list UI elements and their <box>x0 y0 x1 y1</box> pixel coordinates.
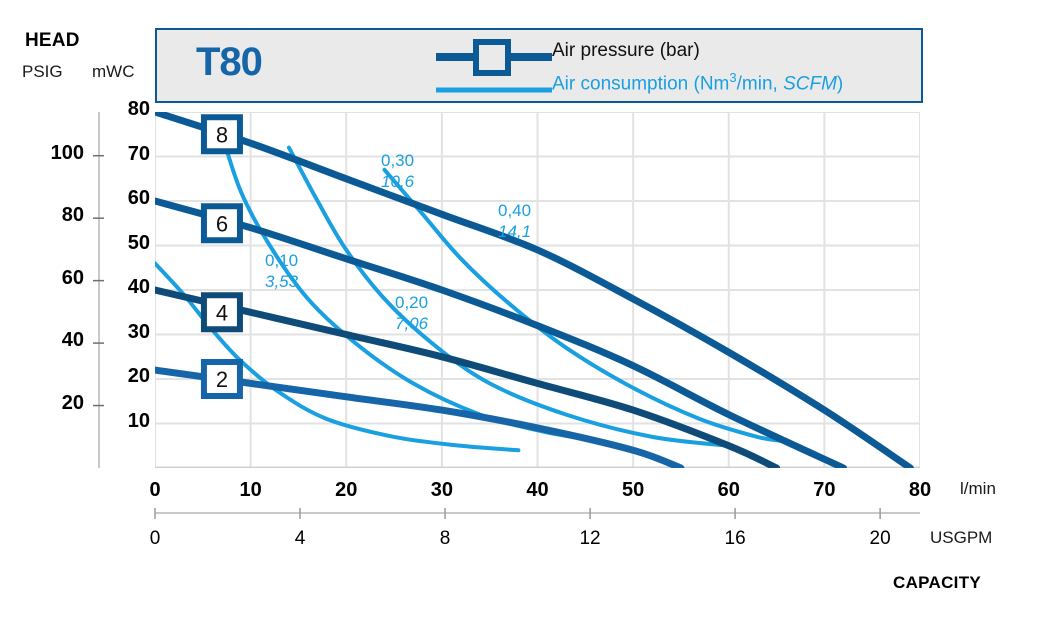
legend-consumption-pre: Air consumption (Nm <box>552 73 729 94</box>
psig-tick-marks <box>93 156 104 406</box>
capacity-axis-title: CAPACITY <box>893 573 981 593</box>
mwc-tick-label: 10 <box>104 410 150 433</box>
usgpm-tick-label: 12 <box>567 528 613 550</box>
annotation-0-20: 0,20 7,06 <box>395 292 428 335</box>
lmin-tick-label: 70 <box>801 479 847 502</box>
lmin-tick-label: 30 <box>419 479 465 502</box>
annotation-0-10: 0,10 3,53 <box>265 250 298 293</box>
legend-key-symbols <box>434 38 564 108</box>
lmin-axis-unit: l/min <box>960 479 996 499</box>
marker-label: 2 <box>216 367 228 392</box>
chart-page: HEAD PSIG mWC l/min USGPM CAPACITY 20406… <box>0 0 1048 626</box>
lmin-tick-label: 60 <box>706 479 752 502</box>
legend-label-air-consumption: Air consumption (Nm3/min, SCFM) <box>552 70 843 95</box>
psig-axis-unit: PSIG <box>22 62 63 82</box>
legend-consumption-mid: /min, <box>737 73 783 94</box>
lmin-tick-label: 20 <box>323 479 369 502</box>
psig-tick-label: 40 <box>22 329 84 352</box>
mwc-tick-label: 40 <box>104 276 150 299</box>
psig-tick-label: 100 <box>22 142 84 165</box>
pressure-marker-4: 4 <box>204 295 240 329</box>
usgpm-tick-label: 4 <box>277 528 323 550</box>
usgpm-tick-label: 0 <box>132 528 178 550</box>
mwc-tick-label: 50 <box>104 232 150 255</box>
pressure-marker-2: 2 <box>204 362 240 396</box>
lmin-tick-label: 50 <box>610 479 656 502</box>
pressure-marker-6: 6 <box>204 206 240 240</box>
lmin-tick-label: 40 <box>515 479 561 502</box>
mwc-tick-label: 60 <box>104 187 150 210</box>
mwc-tick-label: 70 <box>104 143 150 166</box>
legend-consumption-post: ) <box>837 73 843 94</box>
model-title: T80 <box>196 40 262 85</box>
air-consumption-curve <box>155 263 518 450</box>
head-axis-title: HEAD <box>25 30 80 52</box>
marker-label: 4 <box>216 300 228 325</box>
usgpm-tick-label: 8 <box>422 528 468 550</box>
psig-tick-label: 20 <box>22 392 84 415</box>
marker-label: 8 <box>216 122 228 147</box>
usgpm-tick-label: 20 <box>857 528 903 550</box>
mwc-tick-label: 20 <box>104 365 150 388</box>
psig-tick-label: 80 <box>22 204 84 227</box>
usgpm-tick-marks <box>155 508 880 519</box>
legend-consumption-scfm: SCFM <box>783 73 837 94</box>
lmin-tick-label: 80 <box>897 479 943 502</box>
lmin-tick-label: 0 <box>132 479 178 502</box>
lmin-tick-label: 10 <box>228 479 274 502</box>
legend-label-air-pressure: Air pressure (bar) <box>552 40 700 62</box>
annotation-0-30: 0,30 10,6 <box>381 150 414 193</box>
usgpm-axis-unit: USGPM <box>930 528 992 548</box>
annotation-0-40: 0,40 14,1 <box>498 200 531 243</box>
marker-label: 6 <box>216 211 228 236</box>
air-pressure-key-icon <box>436 42 552 73</box>
psig-tick-label: 60 <box>22 267 84 290</box>
mwc-tick-label: 80 <box>104 98 150 121</box>
legend-consumption-sup: 3 <box>729 70 736 85</box>
usgpm-tick-label: 16 <box>712 528 758 550</box>
mwc-axis-unit: mWC <box>92 62 134 82</box>
pressure-marker-8: 8 <box>204 117 240 151</box>
mwc-tick-label: 30 <box>104 321 150 344</box>
